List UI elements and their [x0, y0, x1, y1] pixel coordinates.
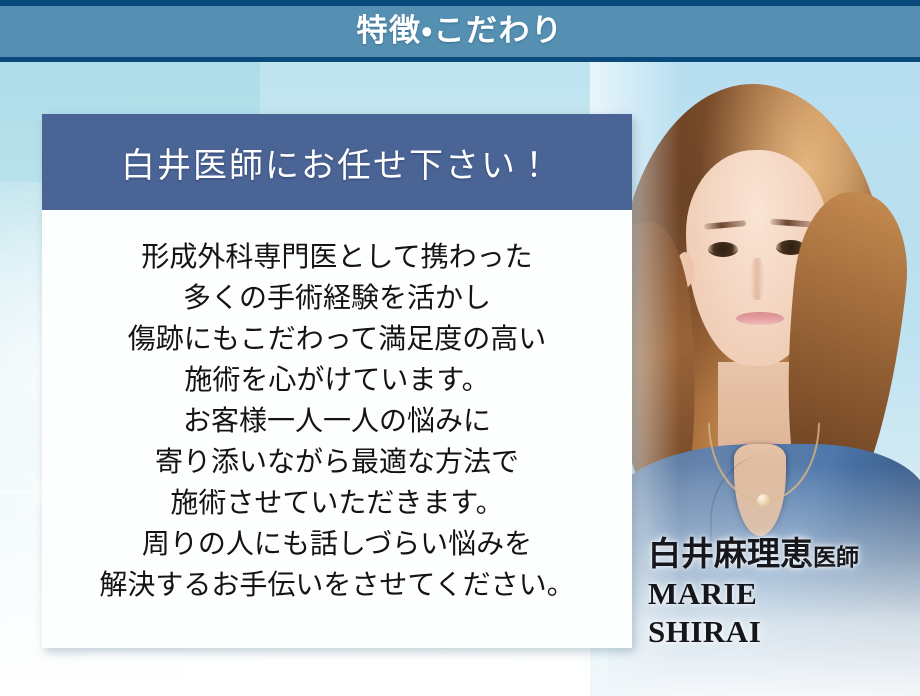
body-line: 施術を心がけています。 [184, 359, 489, 400]
doctor-name-romaji-line1: MARIE [648, 576, 859, 613]
body-line: お客様一人一人の悩みに [183, 400, 491, 441]
doctor-name-kanji: 白井麻理恵 [648, 537, 813, 573]
info-card-title: 白井医師にお任せ下さい！ [121, 138, 553, 187]
doctor-name-block: 白井麻理恵医師 MARIE SHIRAI [648, 538, 859, 651]
body-line: 形成外科専門医として携わった [141, 236, 532, 277]
info-card-header: 白井医師にお任せ下さい！ [42, 114, 632, 210]
info-card-body: 形成外科専門医として携わった 多くの手術経験を活かし 傷跡にもこだわって満足度の… [42, 210, 632, 648]
info-card: 白井医師にお任せ下さい！ 形成外科専門医として携わった 多くの手術経験を活かし … [42, 114, 632, 648]
nose-shape [750, 258, 764, 300]
doctor-name-japanese: 白井麻理恵医師 [648, 538, 859, 574]
body-line: 多くの手術経験を活かし [183, 277, 491, 318]
body-line: 解決するお手伝いをさせてください。 [99, 564, 574, 605]
body-line: 周りの人にも話しづらい悩みを [142, 523, 532, 564]
doctor-title-suffix: 医師 [813, 545, 859, 570]
eye-left [708, 242, 738, 257]
body-line: 寄り添いながら最適な方法で [155, 441, 519, 482]
doctor-name-romaji-line2: SHIRAI [648, 614, 859, 651]
slide-canvas: 白井麻理恵医師 MARIE SHIRAI 白井医師にお任せ下さい！ 形成外科専門… [0, 0, 920, 696]
mouth-shape [736, 312, 784, 325]
body-line: 傷跡にもこだわって満足度の高い [128, 318, 547, 359]
section-banner: 特徴・こだわり [0, 0, 920, 62]
body-line: 施術させていただきます。 [170, 482, 503, 523]
section-banner-title: 特徴・こだわり [356, 16, 563, 47]
